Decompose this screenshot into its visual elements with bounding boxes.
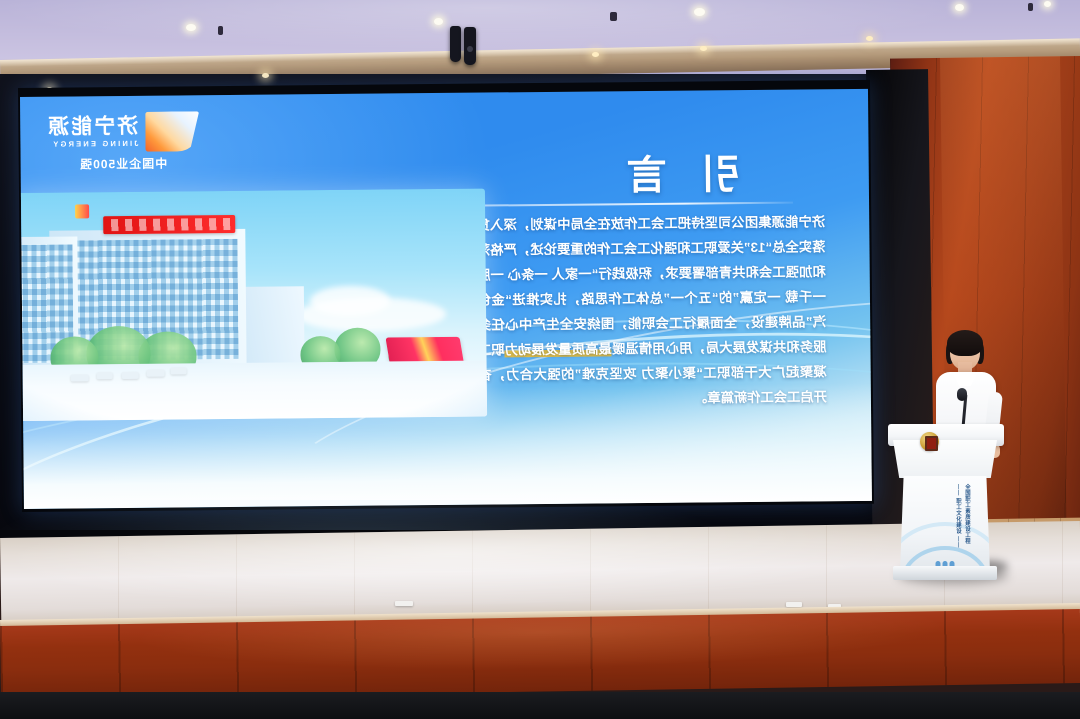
logo-name-en: JINING ENERGY <box>46 140 138 148</box>
mirrored-slide-content: 济宁能源 JINING ENERGY 中国企业500强 引言 济宁能源集团公司坚… <box>20 89 872 509</box>
floor-object <box>786 602 802 607</box>
microphone-icon <box>957 388 967 401</box>
ceiling-downlight <box>694 8 705 16</box>
logo-name-cn: 济宁能源 <box>46 116 138 138</box>
wall-spotlight <box>700 46 707 51</box>
logo-text: 济宁能源 JINING ENERGY <box>46 116 138 148</box>
logo-row: 济宁能源 JINING ENERGY <box>46 111 199 152</box>
wall-spotlight <box>866 36 873 41</box>
wall-spotlight <box>592 52 599 57</box>
podium-face <box>893 440 997 478</box>
hanging-stage-light <box>450 26 461 62</box>
stage-front-sheen <box>0 609 1080 700</box>
hall-floor <box>0 692 1080 719</box>
podium-text-line-1: 全国职工素质建设工程 <box>963 484 970 542</box>
photo-edge-fade <box>20 189 487 422</box>
wall-spotlight <box>262 73 269 78</box>
podium-base <box>893 566 997 580</box>
headquarters-photo <box>20 189 487 422</box>
ceiling-downlight <box>186 24 196 31</box>
ceiling-fixture <box>1028 3 1033 11</box>
podium-text: 全国职工素质建设工程 —— 职工文化建设 —— <box>924 484 970 542</box>
ceiling-downlight <box>955 4 964 11</box>
ceiling-downlight <box>434 18 443 25</box>
company-logo: 济宁能源 JINING ENERGY 中国企业500强 <box>46 111 200 172</box>
union-emblem-icon <box>920 432 939 451</box>
jining-energy-mark-icon <box>145 111 199 152</box>
led-screen: 济宁能源 JINING ENERGY 中国企业500强 引言 济宁能源集团公司坚… <box>20 89 872 509</box>
podium-body: 全国职工素质建设工程 —— 职工文化建设 —— <box>900 476 990 572</box>
speaker-hair <box>947 330 983 356</box>
slide-title: 引言 <box>592 142 741 201</box>
podium-text-line-2: —— 职工文化建设 —— <box>954 484 961 542</box>
title-underline <box>483 202 793 207</box>
ceiling-fixture <box>218 26 223 35</box>
ceiling-downlight <box>1044 1 1051 7</box>
floor-object <box>395 601 413 606</box>
conference-hall-photo: 济宁能源 JINING ENERGY 中国企业500强 引言 济宁能源集团公司坚… <box>0 0 1080 719</box>
logo-subtitle: 中国企业500强 <box>79 155 167 173</box>
hanging-stage-light <box>464 27 476 65</box>
slide-body-text: 济宁能源集团公司坚持把工会工作放在全局中谋划，深入贯彻落实全总“13”关爱职工和… <box>463 209 827 412</box>
slide-highlight-phrase: 最高质量发展动力 <box>504 341 611 357</box>
slide-paragraph-1: 济宁能源集团公司坚持把工会工作放在全局中谋划，深入贯彻落实全总“13”关爱职工和… <box>463 214 826 356</box>
ceiling-fixture <box>610 12 617 21</box>
